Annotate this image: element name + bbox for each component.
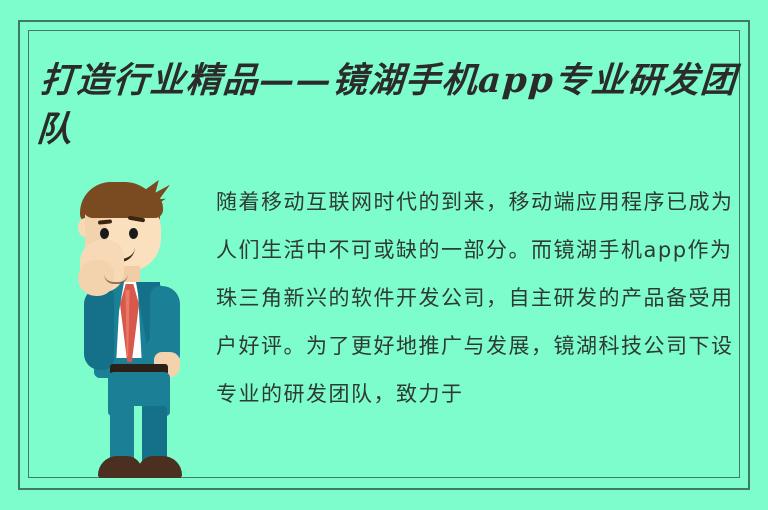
article-body-text: 随着移动互联网时代的到来，移动端应用程序已成为人们生活中不可或缺的一部分。而镜湖…	[216, 178, 736, 478]
shoe-left	[98, 456, 142, 478]
shoe-right	[138, 456, 182, 478]
thinking-businessman-illustration	[58, 178, 208, 478]
page-title: 打造行业精品——镜湖手机app专业研发团队	[35, 56, 742, 154]
eye-left	[100, 228, 109, 239]
arm-left	[84, 288, 114, 370]
hair-fringe-shape	[83, 190, 163, 218]
poster-canvas: 打造行业精品——镜湖手机app专业研发团队 随着移动互联网时代的到来，移动端应用…	[0, 0, 768, 510]
eye-right	[129, 228, 138, 239]
